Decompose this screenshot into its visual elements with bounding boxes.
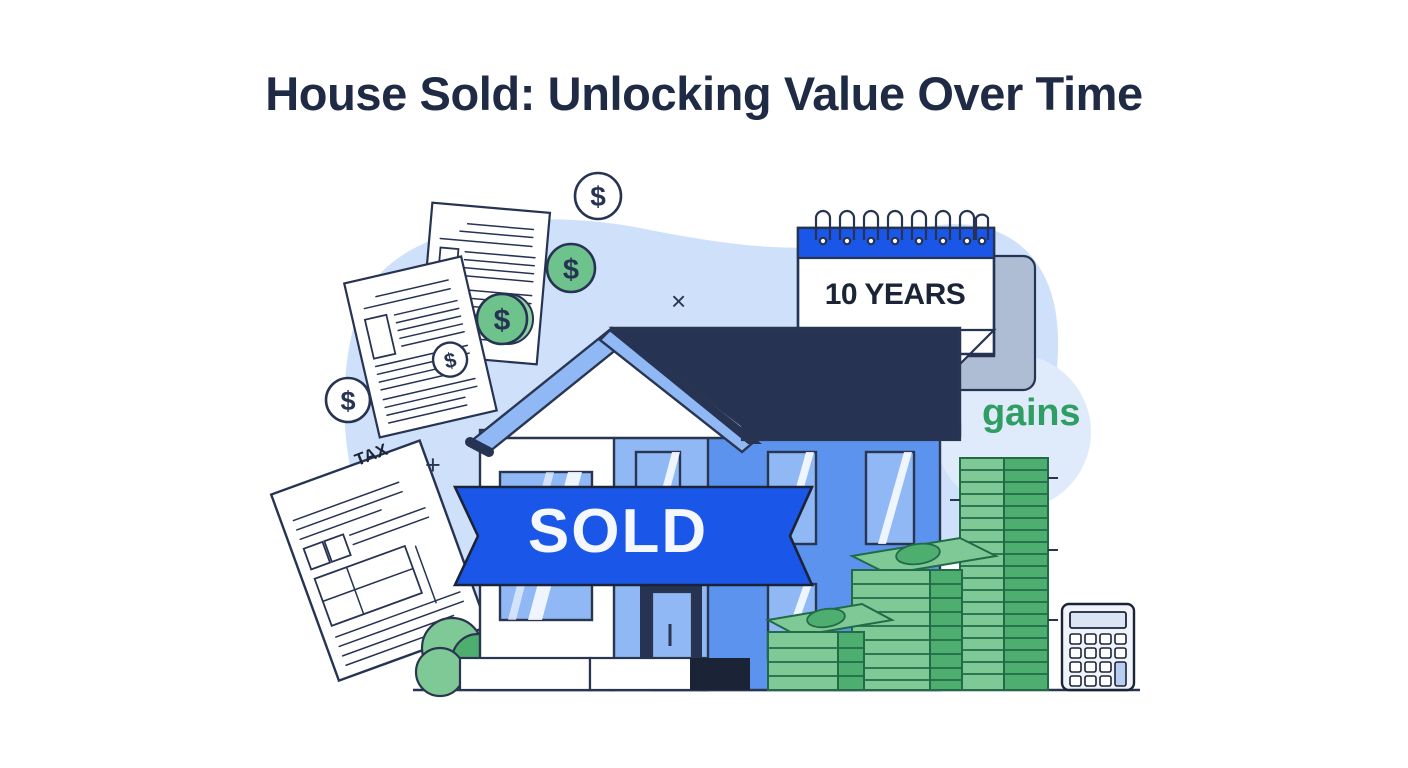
house-step-right <box>590 658 706 690</box>
house-sold-illustration: $ <box>0 0 1408 768</box>
house-step-left <box>460 658 590 690</box>
coin-green-upper: $ <box>547 244 595 292</box>
money-stack-tall <box>950 458 1058 690</box>
coin-green-mid: $ <box>477 294 533 344</box>
calculator-enter-key <box>1115 662 1126 686</box>
svg-text:$: $ <box>340 386 355 416</box>
plus-symbol: + <box>425 450 441 481</box>
calendar-label: 10 YEARS <box>800 278 990 312</box>
illustration-canvas: House Sold: Unlocking Value Over Time <box>0 0 1408 768</box>
sold-banner-label: SOLD <box>498 496 738 567</box>
svg-text:$: $ <box>590 181 606 212</box>
svg-text:$: $ <box>494 304 511 337</box>
multiply-symbol: × <box>671 286 686 317</box>
house-window-side-2 <box>866 452 914 544</box>
house-base-dark <box>690 658 750 690</box>
calculator-display <box>1070 612 1126 628</box>
coin-outline-left: $ <box>326 378 370 422</box>
calculator <box>1062 604 1134 690</box>
coin-outline-top: $ <box>575 173 621 219</box>
gains-label: gains <box>982 392 1080 435</box>
svg-text:$: $ <box>563 254 579 286</box>
